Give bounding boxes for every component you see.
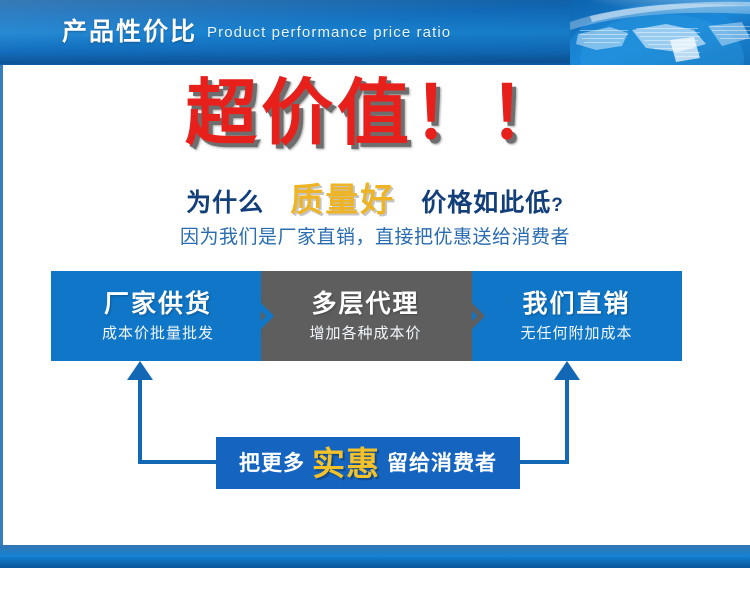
product-price-ratio-infographic: 产品性价比 Product performance price ratio 超价… (0, 0, 750, 590)
supply-chain-flow: 厂家供货 成本价批量批发 多层代理 增加各种成本价 我们直销 无任何附加成本 (51, 271, 682, 361)
flow-box-title: 多层代理 (311, 292, 419, 317)
flow-box-subtitle: 成本价批量批发 (102, 326, 214, 341)
chevron-right-icon (465, 271, 491, 361)
header-title-group: 产品性价比 Product performance price ratio (62, 0, 451, 65)
subtitle-highlight-quality: 质量好 (290, 183, 395, 216)
subtitle-row: 为什么 质量好 价格如此低? (0, 183, 750, 216)
footer-bar-gloss (0, 545, 750, 568)
subtitle-question-right: 价格如此低 (421, 189, 551, 217)
flow-box-title: 厂家供货 (104, 292, 212, 317)
flow-box-factory-supply: 厂家供货 成本价批量批发 (51, 271, 265, 361)
header-title-en: Product performance price ratio (207, 25, 451, 40)
globe-world-map-icon (570, 0, 750, 65)
flow-box-direct-sales: 我们直销 无任何附加成本 (471, 271, 682, 361)
header-title-cn: 产品性价比 (62, 20, 197, 45)
flow-box-title: 我们直销 (522, 292, 630, 317)
banner-prefix: 把更多 (239, 453, 305, 474)
reason-text: 因为我们是厂家直销，直接把优惠送给消费者 (0, 228, 750, 247)
bottom-promo-banner: 把更多 实惠 留给消费者 (216, 437, 520, 489)
arrow-up-icon (127, 361, 153, 380)
subtitle-question-mark: ? (551, 195, 564, 216)
flow-box-subtitle: 增加各种成本价 (309, 326, 421, 341)
arrow-up-icon (554, 361, 580, 380)
chevron-right-icon (254, 271, 280, 361)
banner-highlight-benefit: 实惠 (312, 447, 380, 480)
flow-box-multi-layer-agency: 多层代理 增加各种成本价 (260, 271, 471, 361)
subtitle-question-right-group: 价格如此低? (421, 191, 564, 216)
page-headline: 超价值！！ (0, 78, 750, 150)
subtitle-question-left: 为什么 (186, 191, 264, 216)
footer-bar (0, 545, 750, 568)
header-banner: 产品性价比 Product performance price ratio (0, 0, 750, 65)
flow-box-subtitle: 无任何附加成本 (520, 326, 632, 341)
banner-suffix: 留给消费者 (387, 453, 497, 474)
